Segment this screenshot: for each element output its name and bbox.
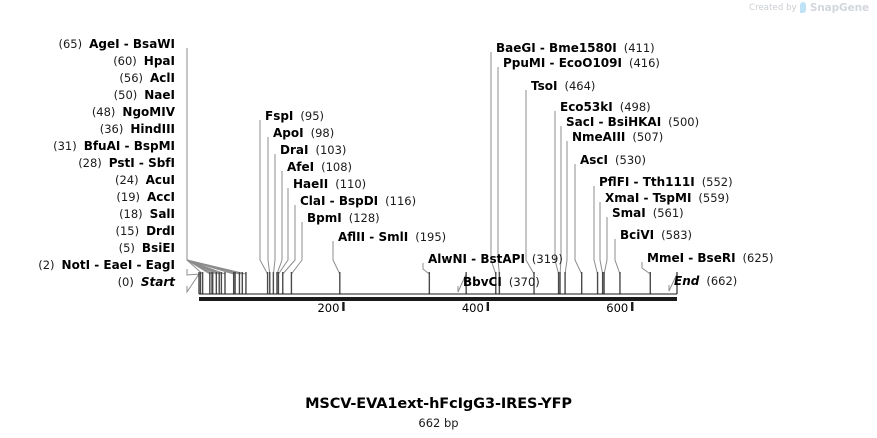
site-enzymes-agei: AgeI - BsaWI	[89, 37, 175, 51]
leader-line-afei	[277, 171, 282, 274]
leader-line-haeii	[278, 188, 288, 274]
enzyme-separator: -	[594, 115, 607, 129]
enzyme-separator: -	[120, 37, 133, 51]
enzyme-separator: -	[132, 258, 145, 272]
site-label-asci[interactable]: AscI(530)	[580, 154, 646, 167]
leader-line-baegi	[491, 52, 496, 274]
enzyme-name-baegi[interactable]: BaeGI	[496, 41, 536, 55]
enzyme-name-bsiei[interactable]: BsiEI	[142, 241, 175, 255]
site-enzymes-end: End	[674, 274, 699, 288]
site-label-tsoi[interactable]: TsoI(464)	[531, 80, 595, 93]
enzyme-name-smli[interactable]: SmlI	[378, 230, 408, 244]
enzyme-name-drdi[interactable]: DrdI	[146, 224, 175, 238]
site-label-ngomiv[interactable]: (48)NgoMIV	[92, 106, 175, 119]
site-label-acli[interactable]: (56)AclI	[119, 72, 175, 85]
site-enzymes-nmeaiii: NmeAIII	[572, 130, 625, 144]
site-label-baegi[interactable]: BaeGI - Bme1580I(411)	[496, 42, 655, 55]
site-label-noti[interactable]: (2)NotI - EaeI - EagI	[38, 259, 175, 272]
site-label-smai[interactable]: SmaI(561)	[612, 207, 684, 220]
site-position-pflfi: (552)	[702, 175, 733, 189]
leader-line-pflfi	[594, 186, 598, 274]
enzyme-name-tsoi[interactable]: TsoI	[531, 79, 557, 93]
enzyme-name-ngomiv[interactable]: NgoMIV	[122, 105, 175, 119]
enzyme-name-hindiii[interactable]: HindIII	[130, 122, 175, 136]
site-position-afei: (108)	[321, 160, 352, 174]
leader-line-ppumi	[498, 67, 499, 274]
enzyme-name-agei[interactable]: AgeI	[89, 37, 119, 51]
site-enzymes-ppumi: PpuMI - EcoO109I	[503, 56, 622, 70]
site-position-acci: (19)	[116, 190, 140, 204]
site-ticks-group	[199, 272, 677, 294]
site-label-hindiii[interactable]: (36)HindIII	[100, 123, 175, 136]
site-position-drai: (103)	[315, 143, 346, 157]
leader-line-bpmi	[291, 222, 302, 274]
site-label-hpai[interactable]: (60)HpaI	[113, 55, 175, 68]
leader-line-eco53ki	[555, 111, 559, 274]
leader-line-naei	[187, 99, 235, 274]
site-position-bfuai: (31)	[53, 139, 77, 153]
site-enzymes-hindiii: HindIII	[130, 122, 175, 136]
site-label-pflfi[interactable]: PflFI - Tth111I(552)	[599, 176, 733, 189]
enzyme-name-bcivi[interactable]: BciVI	[620, 228, 654, 242]
site-enzymes-xmai: XmaI - TspMI	[605, 191, 691, 205]
leader-line-bfuai	[187, 150, 221, 274]
site-position-start: (0)	[118, 275, 134, 289]
site-label-drai[interactable]: DraI(103)	[280, 144, 346, 157]
enzyme-name-mmei[interactable]: MmeI	[647, 251, 684, 265]
enzyme-separator: -	[536, 41, 549, 55]
leader-line-asci	[575, 164, 582, 274]
leader-line-acui	[187, 184, 216, 274]
site-enzymes-baegi: BaeGI - Bme1580I	[496, 41, 617, 55]
site-enzymes-fspi: FspI	[265, 109, 293, 123]
site-enzymes-ngomiv: NgoMIV	[122, 105, 175, 119]
site-label-fspi[interactable]: FspI(95)	[265, 110, 324, 123]
enzyme-separator: -	[325, 194, 338, 208]
scale-tick-label: 600	[606, 301, 628, 315]
sequence-ruler	[199, 294, 677, 301]
site-label-psti[interactable]: (28)PstI - SbfI	[78, 157, 175, 170]
leader-line-acli	[187, 82, 239, 274]
leader-line-hpai	[187, 65, 242, 274]
enzyme-name-sbfi[interactable]: SbfI	[148, 156, 175, 170]
site-position-smai: (561)	[653, 206, 684, 220]
site-label-nmeaiii[interactable]: NmeAIII(507)	[572, 131, 663, 144]
site-position-xmai: (559)	[698, 191, 729, 205]
site-enzymes-haeii: HaeII	[293, 177, 328, 191]
leader-line-ngomiv	[187, 116, 234, 274]
scale-ticks-group: 200400600	[317, 301, 632, 315]
leader-line-bcivi	[615, 239, 620, 274]
enzyme-name-ppumi[interactable]: PpuMI	[503, 56, 545, 70]
sequence-length-label: 662 bp	[0, 416, 877, 430]
enzyme-name-psti[interactable]: PstI	[109, 156, 135, 170]
site-position-asci: (530)	[615, 153, 646, 167]
site-label-saci[interactable]: SacI - BsiHKAI(500)	[566, 116, 699, 129]
site-label-afei[interactable]: AfeI(108)	[287, 161, 352, 174]
site-position-clai: (116)	[385, 194, 416, 208]
site-enzymes-alwni: AlwNI - BstAPI	[428, 252, 525, 266]
enzyme-name-bme1580i[interactable]: Bme1580I	[549, 41, 617, 55]
leader-line-fspi	[260, 120, 268, 274]
leader-line-start	[187, 274, 199, 292]
site-position-ngomiv: (48)	[92, 105, 116, 119]
site-label-bfuai[interactable]: (31)BfuAI - BspMI	[53, 140, 175, 153]
site-enzymes-naei: NaeI	[144, 88, 175, 102]
enzyme-name-end[interactable]: End	[674, 274, 699, 288]
leader-line-aflii	[333, 241, 340, 274]
site-label-xmai[interactable]: XmaI - TspMI(559)	[605, 192, 729, 205]
leader-line-smai	[604, 217, 607, 274]
leader-line-psti	[187, 167, 219, 274]
site-enzymes-bpmi: BpmI	[307, 211, 342, 225]
site-position-end: (662)	[706, 274, 737, 288]
site-enzymes-smai: SmaI	[612, 206, 646, 220]
enzyme-separator: -	[639, 191, 652, 205]
site-position-drdi: (15)	[115, 224, 139, 238]
enzyme-separator: -	[365, 230, 378, 244]
site-enzymes-tsoi: TsoI	[531, 79, 557, 93]
site-label-clai[interactable]: ClaI - BspDI(116)	[300, 195, 416, 208]
site-label-acci[interactable]: (19)AccI	[116, 191, 175, 204]
site-enzymes-bcivi: BciVI	[620, 228, 654, 242]
site-enzymes-eco53ki: Eco53kI	[560, 100, 613, 114]
enzyme-name-bsihkai[interactable]: BsiHKAI	[608, 115, 662, 129]
enzyme-separator: -	[629, 175, 642, 189]
site-enzymes-drdi: DrdI	[146, 224, 175, 238]
site-position-apoi: (98)	[311, 126, 335, 140]
enzyme-name-pflfi[interactable]: PflFI	[599, 175, 629, 189]
enzyme-name-smai[interactable]: SmaI	[612, 206, 646, 220]
site-position-fspi: (95)	[300, 109, 324, 123]
site-label-bpmi[interactable]: BpmI(128)	[307, 212, 380, 225]
leader-line-agei	[187, 48, 246, 274]
site-enzymes-acci: AccI	[147, 190, 175, 204]
site-enzymes-asci: AscI	[580, 153, 608, 167]
site-enzymes-bfuai: BfuAI - BspMI	[84, 139, 175, 153]
site-label-mmei[interactable]: MmeI - BseRI(625)	[647, 252, 773, 265]
enzyme-name-bpmi[interactable]: BpmI	[307, 211, 342, 225]
site-enzymes-sali: SalI	[150, 207, 175, 221]
site-enzymes-acui: AcuI	[146, 173, 175, 187]
site-position-hindiii: (36)	[100, 122, 124, 136]
site-enzymes-aflii: AflII - SmlI	[338, 230, 408, 244]
site-position-bpmi: (128)	[349, 211, 380, 225]
enzyme-name-apoi[interactable]: ApoI	[273, 126, 304, 140]
enzyme-name-eco53ki[interactable]: Eco53kI	[560, 100, 613, 114]
enzyme-separator: -	[120, 139, 133, 153]
site-label-end[interactable]: End(662)	[674, 275, 737, 288]
leader-line-clai	[283, 205, 295, 274]
enzyme-name-alwni[interactable]: AlwNI	[428, 252, 467, 266]
site-label-naei[interactable]: (50)NaeI	[114, 89, 175, 102]
leader-line-apoi	[268, 137, 270, 274]
site-label-bcivi[interactable]: BciVI(583)	[620, 229, 692, 242]
enzyme-name-xmai[interactable]: XmaI	[605, 191, 639, 205]
site-enzymes-start: Start	[141, 275, 175, 289]
site-position-psti: (28)	[78, 156, 102, 170]
enzyme-name-hpai[interactable]: HpaI	[144, 54, 175, 68]
enzyme-name-tspmi[interactable]: TspMI	[653, 191, 692, 205]
site-position-bbvci: (370)	[509, 275, 540, 289]
enzyme-separator: -	[90, 258, 103, 272]
enzyme-name-afei[interactable]: AfeI	[287, 160, 314, 174]
site-label-start[interactable]: (0)Start	[118, 276, 175, 289]
site-position-alwni: (319)	[532, 252, 563, 266]
site-enzymes-bsiei: BsiEI	[142, 241, 175, 255]
page-title: MSCV-EVA1ext-hFcIgG3-IRES-YFP	[0, 396, 877, 412]
enzyme-name-naei[interactable]: NaeI	[144, 88, 175, 102]
site-position-eco53ki: (498)	[620, 100, 651, 114]
enzyme-name-tth111i[interactable]: Tth111I	[643, 175, 695, 189]
enzyme-name-asci[interactable]: AscI	[580, 153, 608, 167]
enzyme-name-fspi[interactable]: FspI	[265, 109, 293, 123]
enzyme-name-bfuai[interactable]: BfuAI	[84, 139, 121, 153]
site-enzymes-apoi: ApoI	[273, 126, 304, 140]
site-enzymes-hpai: HpaI	[144, 54, 175, 68]
enzyme-name-drai[interactable]: DraI	[280, 143, 308, 157]
site-position-noti: (2)	[38, 258, 54, 272]
site-label-eco53ki[interactable]: Eco53kI(498)	[560, 101, 651, 114]
site-position-haeii: (110)	[335, 177, 366, 191]
scale-tick-label: 200	[317, 301, 339, 315]
enzyme-name-nmeaiii[interactable]: NmeAIII	[572, 130, 625, 144]
leader-line-tsoi	[526, 90, 534, 274]
enzyme-separator: -	[684, 251, 697, 265]
leader-line-hindiii	[187, 133, 225, 274]
site-position-acli: (56)	[119, 71, 143, 85]
site-enzymes-saci: SacI - BsiHKAI	[566, 115, 661, 129]
site-label-sali[interactable]: (18)SalI	[119, 208, 175, 221]
site-label-bsiei[interactable]: (5)BsiEI	[119, 242, 175, 255]
site-enzymes-pflfi: PflFI - Tth111I	[599, 175, 695, 189]
enzyme-name-sali[interactable]: SalI	[150, 207, 175, 221]
site-position-sali: (18)	[119, 207, 143, 221]
site-enzymes-bbvci: BbvCI	[463, 275, 502, 289]
site-position-nmeaiii: (507)	[632, 130, 663, 144]
site-position-agei: (65)	[58, 37, 82, 51]
leader-line-xmai	[600, 202, 603, 274]
enzyme-separator: -	[135, 156, 148, 170]
enzyme-name-bseri[interactable]: BseRI	[697, 251, 735, 265]
site-label-ppumi[interactable]: PpuMI - EcoO109I(416)	[503, 57, 660, 70]
enzyme-name-bstapi[interactable]: BstAPI	[480, 252, 525, 266]
leader-line-nmeaiii	[565, 141, 567, 274]
site-label-acui[interactable]: (24)AcuI	[115, 174, 175, 187]
site-enzymes-mmei: MmeI - BseRI	[647, 251, 736, 265]
site-label-aflii[interactable]: AflII - SmlI(195)	[338, 231, 446, 244]
site-label-bbvci[interactable]: BbvCI(370)	[463, 276, 540, 289]
enzyme-name-bspmi[interactable]: BspMI	[134, 139, 175, 153]
site-position-aflii: (195)	[415, 230, 446, 244]
enzyme-name-bspdi[interactable]: BspDI	[339, 194, 378, 208]
leader-line-drai	[273, 154, 275, 274]
enzyme-name-bsawi[interactable]: BsaWI	[133, 37, 175, 51]
site-position-hpai: (60)	[113, 54, 137, 68]
site-position-bsiei: (5)	[119, 241, 135, 255]
enzyme-name-acli[interactable]: AclI	[150, 71, 175, 85]
site-label-alwni[interactable]: AlwNI - BstAPI(319)	[428, 253, 563, 266]
enzyme-name-ecoo109i[interactable]: EcoO109I	[559, 56, 622, 70]
enzyme-separator: -	[467, 252, 480, 266]
site-label-drdi[interactable]: (15)DrdI	[115, 225, 175, 238]
scale-tick-label: 400	[462, 301, 484, 315]
site-enzymes-afei: AfeI	[287, 160, 314, 174]
site-label-agei[interactable]: (65)AgeI - BsaWI	[58, 38, 175, 51]
site-label-apoi[interactable]: ApoI(98)	[273, 127, 334, 140]
site-position-bcivi: (583)	[661, 228, 692, 242]
site-position-mmei: (625)	[743, 251, 774, 265]
site-enzymes-acli: AclI	[150, 71, 175, 85]
site-label-haeii[interactable]: HaeII(110)	[293, 178, 366, 191]
site-position-acui: (24)	[115, 173, 139, 187]
title-block: MSCV-EVA1ext-hFcIgG3-IRES-YFP 662 bp	[0, 396, 877, 430]
enzyme-name-bbvci[interactable]: BbvCI	[463, 275, 502, 289]
site-enzymes-noti: NotI - EaeI - EagI	[62, 258, 175, 272]
site-enzymes-clai: ClaI - BspDI	[300, 194, 378, 208]
enzyme-name-noti[interactable]: NotI	[62, 258, 91, 272]
enzyme-separator: -	[545, 56, 558, 70]
enzyme-name-aflii[interactable]: AflII	[338, 230, 365, 244]
enzyme-name-clai[interactable]: ClaI	[300, 194, 325, 208]
enzyme-name-haeii[interactable]: HaeII	[293, 177, 328, 191]
site-position-naei: (50)	[114, 88, 138, 102]
enzyme-name-start[interactable]: Start	[141, 275, 175, 289]
site-position-tsoi: (464)	[564, 79, 595, 93]
enzyme-name-acci[interactable]: AccI	[147, 190, 175, 204]
enzyme-name-eaei[interactable]: EaeI	[103, 258, 132, 272]
site-enzymes-psti: PstI - SbfI	[109, 156, 175, 170]
site-enzymes-drai: DraI	[280, 143, 308, 157]
enzyme-name-eagi[interactable]: EagI	[146, 258, 175, 272]
enzyme-name-saci[interactable]: SacI	[566, 115, 594, 129]
site-position-baegi: (411)	[624, 41, 655, 55]
site-position-ppumi: (416)	[629, 56, 660, 70]
enzyme-name-acui[interactable]: AcuI	[146, 173, 175, 187]
site-position-saci: (500)	[668, 115, 699, 129]
